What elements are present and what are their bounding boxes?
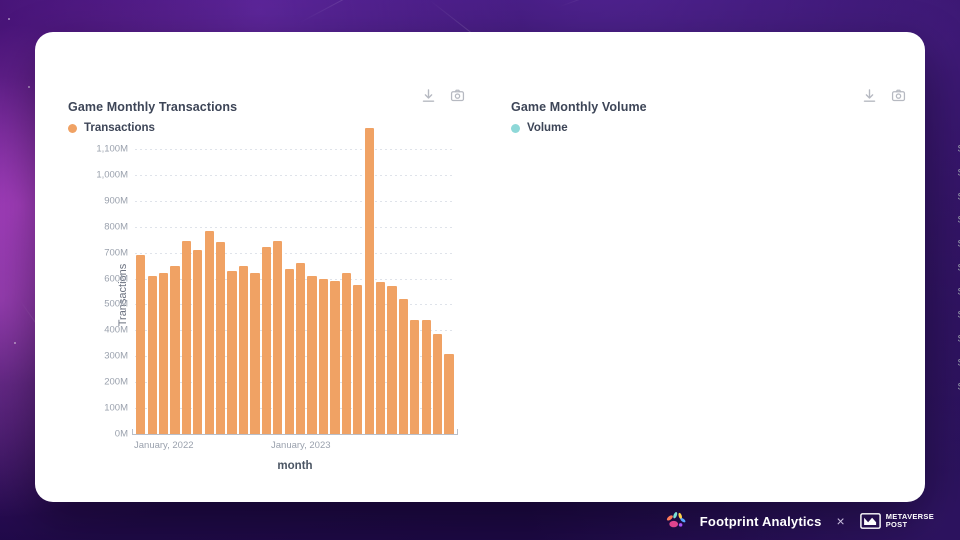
bar[interactable] — [387, 286, 396, 434]
decorative-dot — [14, 342, 16, 344]
bar[interactable] — [444, 354, 453, 434]
metaverse-post-line2: POST — [886, 521, 934, 529]
footer-branding: Footprint Analytics × METAVERSE POST — [0, 502, 960, 540]
bar[interactable] — [227, 271, 236, 434]
camera-icon[interactable] — [891, 88, 906, 103]
chart-legend-volume: Volume — [511, 122, 568, 134]
x-axis-tick-jan-2022: January, 2022 — [134, 440, 194, 451]
chart-legend-transactions: Transactions — [68, 122, 155, 134]
bar[interactable] — [205, 231, 214, 434]
bar[interactable] — [250, 273, 259, 434]
chart-title-transactions: Game Monthly Transactions — [68, 100, 237, 114]
bar[interactable] — [182, 241, 191, 434]
metaverse-post-wordmark: METAVERSE POST — [886, 513, 934, 528]
legend-color-swatch — [68, 124, 77, 133]
y-axis-tick: 400M — [104, 325, 128, 336]
y-axis-tick: 600M — [104, 273, 128, 284]
download-icon[interactable] — [421, 88, 436, 103]
legend-color-swatch — [511, 124, 520, 133]
bar[interactable] — [365, 128, 374, 434]
bar[interactable] — [159, 273, 168, 434]
bar[interactable] — [399, 299, 408, 434]
camera-icon[interactable] — [450, 88, 465, 103]
bar[interactable] — [296, 263, 305, 434]
bar[interactable] — [170, 266, 179, 434]
metaverse-post-badge: METAVERSE POST — [860, 513, 934, 529]
bar[interactable] — [216, 242, 225, 434]
y-axis-tick: 300M — [104, 351, 128, 362]
x-axis-line — [132, 434, 458, 435]
plot-area-transactions: Transactions 0M100M200M300M400M500M600M7… — [135, 149, 455, 434]
footprint-logo-icon — [665, 511, 687, 531]
x-axis-cap-left — [132, 429, 133, 435]
bar[interactable] — [148, 276, 157, 434]
x-axis-tick-jan-2023: January, 2023 — [271, 440, 331, 451]
footprint-brand-name: Footprint Analytics — [700, 514, 822, 529]
bar[interactable] — [433, 334, 442, 434]
bar[interactable] — [410, 320, 419, 434]
y-axis-tick: 500M — [104, 299, 128, 310]
download-icon[interactable] — [862, 88, 877, 103]
brand-separator-icon: × — [837, 513, 845, 529]
y-axis-tick: 1,100M — [96, 144, 128, 155]
y-axis-tick: 700M — [104, 247, 128, 258]
bar[interactable] — [307, 276, 316, 434]
bar[interactable] — [422, 320, 431, 434]
chart-toolbar-transactions — [421, 88, 465, 103]
x-axis-cap-right — [457, 429, 458, 435]
chart-panel-volume: Game Monthly Volume Volume Volume $0M$50… — [480, 32, 925, 502]
bar[interactable] — [193, 250, 202, 434]
bar[interactable] — [136, 255, 145, 434]
y-axis-tick: 900M — [104, 195, 128, 206]
y-axis-tick: 0M — [115, 429, 128, 440]
bar[interactable] — [273, 241, 282, 434]
chart-title-volume: Game Monthly Volume — [511, 100, 647, 114]
bar-series-transactions — [135, 149, 455, 434]
bar[interactable] — [353, 285, 362, 434]
bar[interactable] — [342, 273, 351, 434]
decorative-streak — [560, 0, 664, 7]
bar[interactable] — [285, 269, 294, 434]
y-axis-tick: 100M — [104, 403, 128, 414]
bar[interactable] — [330, 281, 339, 434]
x-axis-label-transactions: month — [135, 460, 455, 472]
chart-panel-transactions: Game Monthly Transactions Transactions T… — [35, 32, 480, 502]
y-axis-tick: 200M — [104, 377, 128, 388]
y-axis-tick: 1,000M — [96, 169, 128, 180]
y-axis-tick: 800M — [104, 221, 128, 232]
decorative-dot — [8, 18, 10, 20]
legend-label-volume: Volume — [527, 122, 568, 134]
bar[interactable] — [239, 266, 248, 434]
chart-toolbar-volume — [862, 88, 906, 103]
legend-label-transactions: Transactions — [84, 122, 155, 134]
metaverse-post-logo-icon — [860, 513, 881, 529]
decorative-dot — [28, 86, 30, 88]
dashboard-card: Game Monthly Transactions Transactions T… — [35, 32, 925, 502]
bar[interactable] — [376, 282, 385, 434]
bar[interactable] — [319, 279, 328, 434]
decorative-streak — [300, 0, 433, 23]
bar[interactable] — [262, 247, 271, 434]
